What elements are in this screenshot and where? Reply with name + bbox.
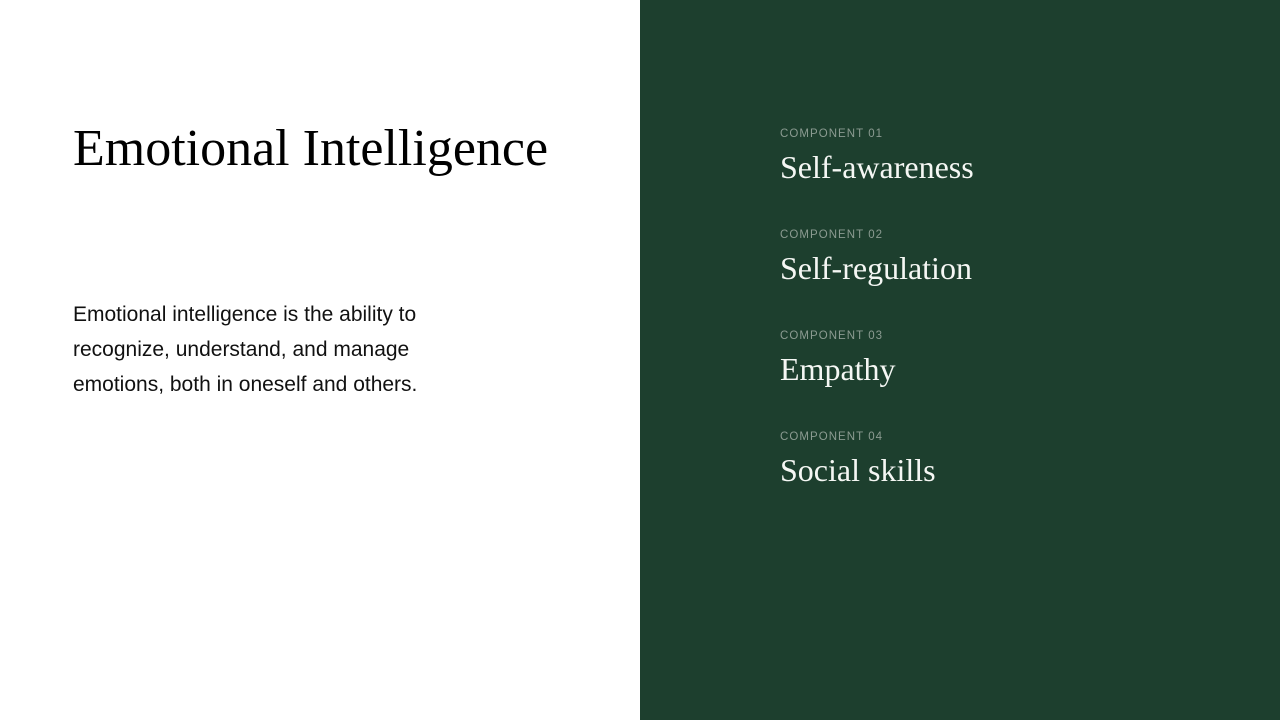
- component-title: Self-regulation: [780, 248, 1220, 288]
- list-item: COMPONENT 03 Empathy: [780, 329, 1220, 389]
- component-eyebrow-label: COMPONENT 04: [780, 430, 1220, 445]
- component-title: Empathy: [780, 349, 1220, 389]
- component-eyebrow-label: COMPONENT 03: [780, 329, 1220, 344]
- component-title: Social skills: [780, 450, 1220, 490]
- component-eyebrow-label: COMPONENT 02: [780, 228, 1220, 243]
- slide-root: Emotional Intelligence Emotional intelli…: [0, 0, 1280, 720]
- list-item: COMPONENT 02 Self-regulation: [780, 228, 1220, 288]
- page-title: Emotional Intelligence: [73, 118, 548, 180]
- list-item: COMPONENT 04 Social skills: [780, 430, 1220, 490]
- list-item: COMPONENT 01 Self-awareness: [780, 127, 1220, 187]
- left-panel: Emotional Intelligence Emotional intelli…: [0, 0, 640, 720]
- body-paragraph: Emotional intelligence is the ability to…: [73, 297, 473, 402]
- component-title: Self-awareness: [780, 147, 1220, 187]
- component-eyebrow-label: COMPONENT 01: [780, 127, 1220, 142]
- right-panel: COMPONENT 01 Self-awareness COMPONENT 02…: [640, 0, 1280, 720]
- component-list: COMPONENT 01 Self-awareness COMPONENT 02…: [780, 127, 1220, 490]
